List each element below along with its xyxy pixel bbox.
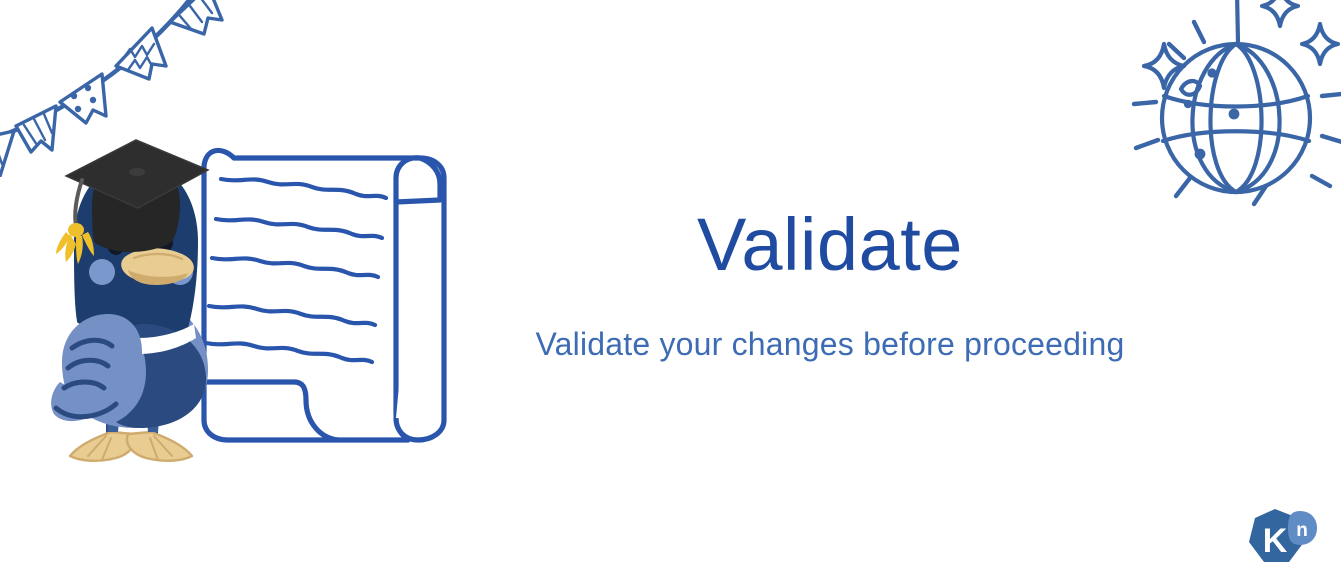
bird-character (51, 140, 208, 461)
page-title: Validate (470, 206, 1190, 284)
scroll-shape (204, 150, 444, 440)
bird-cheek-left (89, 259, 115, 285)
headline-block: Validate Validate your changes before pr… (470, 206, 1190, 366)
graduate-bird-with-scroll-illustration (46, 132, 466, 472)
logo-letter-n: n (1296, 520, 1308, 541)
page-subtitle: Validate your changes before proceeding (470, 324, 1190, 366)
disco-ball-icon (1116, 0, 1341, 231)
logo-letter-k: K (1263, 522, 1288, 560)
kn-logo[interactable]: K n (1245, 507, 1319, 573)
slide-canvas: Validate Validate your changes before pr… (0, 0, 1341, 585)
